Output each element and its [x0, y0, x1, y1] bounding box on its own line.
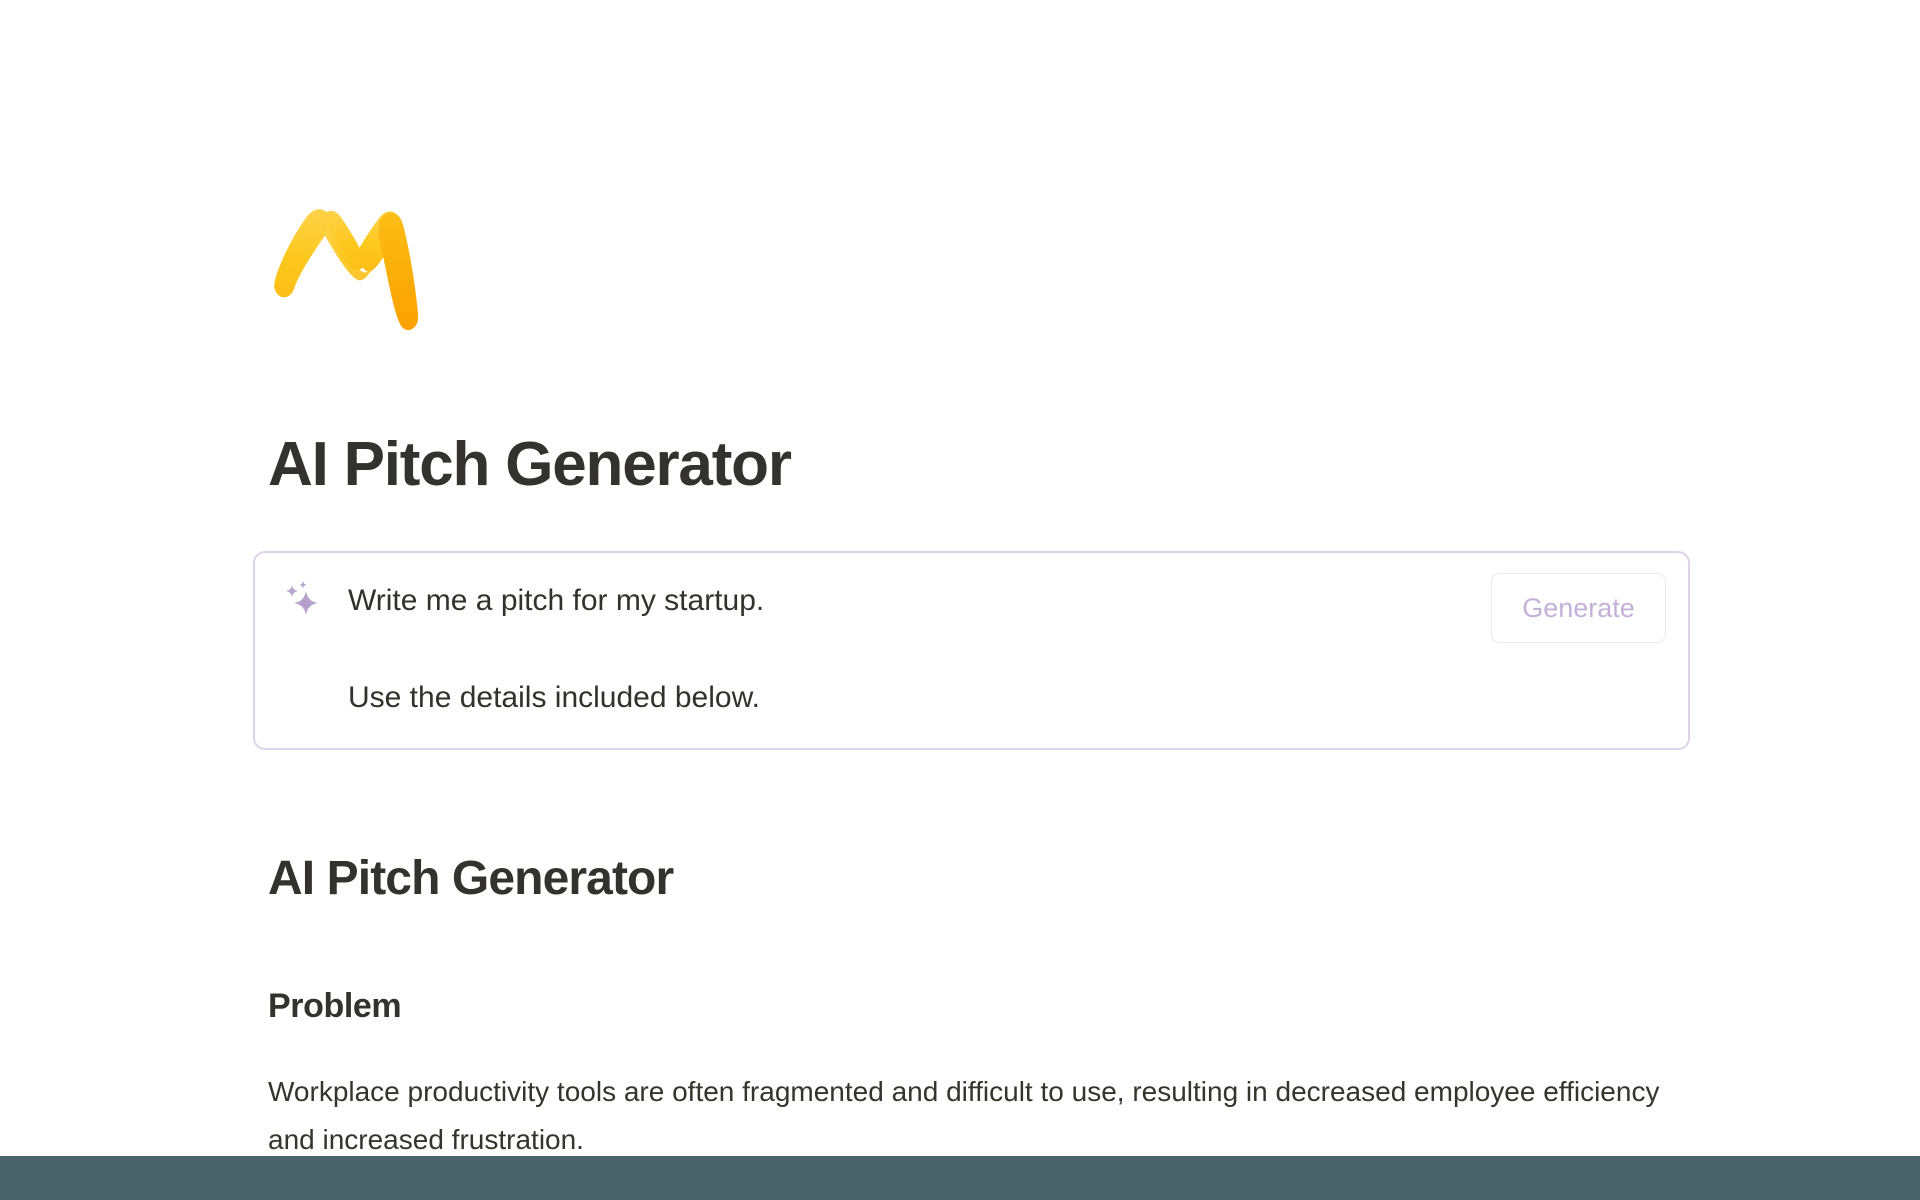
prompt-content: Write me a pitch for my startup. Use the…	[255, 553, 1688, 748]
app-page: AI Pitch Generator	[0, 0, 1920, 1200]
document-title: AI Pitch Generator	[268, 853, 673, 906]
page-title: AI Pitch Generator	[268, 432, 791, 497]
prompt-text-line-2[interactable]: Use the details included below.	[348, 678, 760, 718]
section-heading-problem: Problem	[268, 988, 401, 1025]
ai-prompt-box[interactable]: Write me a pitch for my startup. Use the…	[253, 551, 1690, 750]
prompt-text-line-1[interactable]: Write me a pitch for my startup.	[348, 581, 764, 621]
generate-button[interactable]: Generate	[1491, 573, 1666, 643]
section-body-problem: Workplace productivity tools are often f…	[268, 1068, 1668, 1164]
marker-m-logo-icon	[266, 196, 426, 344]
bottom-bar	[0, 1156, 1920, 1200]
ai-sparkle-icon	[280, 578, 324, 622]
